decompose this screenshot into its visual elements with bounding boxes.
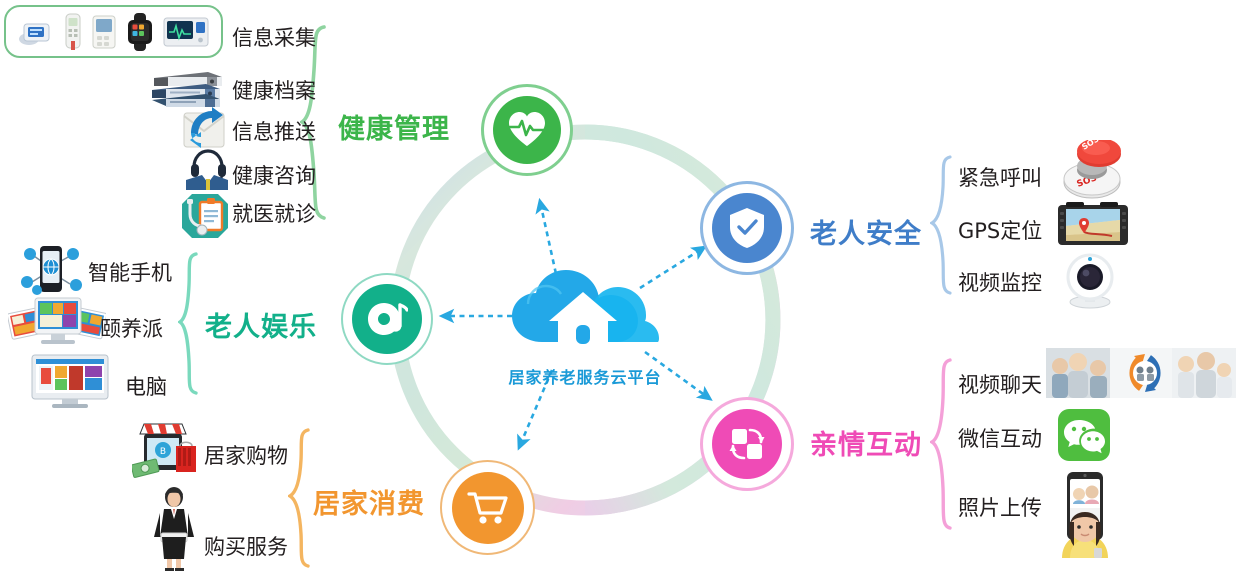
shopping-cart-icon — [467, 489, 509, 527]
tablet-tv-icon — [8, 296, 106, 346]
headset-consult-icon — [182, 147, 230, 191]
item-label-health-consultation: 健康咨询 — [232, 160, 316, 190]
handheld-monitor-icon — [91, 14, 117, 50]
hub-label-health-management: 健康管理 — [338, 107, 450, 146]
wechat-logo-icon — [1058, 409, 1110, 461]
item-label-yiyangpai: 颐养派 — [100, 313, 163, 343]
stethoscope-clipboard-icon — [180, 192, 230, 240]
exchange-blocks-icon — [727, 424, 767, 464]
hub-node-home-consumption[interactable] — [440, 460, 535, 555]
smartphone-network-icon — [14, 242, 86, 296]
smartwatch-icon — [125, 13, 155, 51]
item-label-emergency-call: 紧急呼叫 — [958, 162, 1042, 192]
file-binders-icon — [150, 68, 225, 108]
security-camera-icon — [1058, 252, 1122, 310]
gps-device-icon — [1056, 200, 1130, 250]
diagram-canvas: 居家养老服务云平台 健康管理 老人安全 — [0, 0, 1237, 571]
hub-label-elder-safety: 老人安全 — [810, 212, 922, 251]
cloud-house-icon — [498, 268, 668, 348]
push-message-icon — [182, 107, 226, 149]
cloud-platform-caption: 居家养老服务云平台 — [500, 364, 670, 388]
desktop-computer-icon — [30, 353, 110, 409]
item-label-medical-visit: 就医就诊 — [232, 198, 316, 228]
phone-photo-upload-icon — [1054, 470, 1116, 558]
online-store-icon: B — [132, 422, 200, 478]
item-label-video-chat: 视频聊天 — [958, 369, 1042, 399]
hub-node-family-interaction[interactable] — [700, 397, 794, 491]
glucose-meter-icon — [62, 12, 84, 52]
music-disc-icon — [366, 299, 408, 339]
item-label-photo-upload: 照片上传 — [958, 492, 1042, 522]
patient-monitor-icon — [163, 16, 209, 48]
hub-label-home-consumption: 居家消费 — [313, 482, 425, 521]
bracket-safety — [930, 155, 956, 295]
service-person-icon — [148, 485, 200, 571]
item-label-purchase-service: 购买服务 — [204, 531, 288, 561]
bracket-consumption — [288, 428, 316, 568]
sos-button-icon: SOS SOS — [1056, 140, 1128, 202]
hub-node-elder-entertainment[interactable] — [341, 273, 433, 365]
cloud-platform-node[interactable] — [498, 268, 668, 348]
hub-label-family-interaction: 亲情互动 — [810, 423, 922, 462]
bracket-family — [930, 358, 956, 530]
hub-node-health-management[interactable] — [481, 84, 573, 176]
item-label-smartphone: 智能手机 — [88, 257, 172, 287]
medical-devices-box[interactable] — [4, 5, 223, 58]
svg-text:B: B — [160, 447, 166, 457]
item-label-info-push: 信息推送 — [232, 116, 316, 146]
shield-check-icon — [728, 207, 766, 249]
item-label-info-collection: 信息采集 — [232, 22, 316, 52]
blood-pressure-monitor-icon — [18, 15, 54, 49]
item-label-gps-location: GPS定位 — [958, 215, 1042, 245]
item-label-wechat-interaction: 微信互动 — [958, 423, 1042, 453]
hub-label-elder-entertainment: 老人娱乐 — [205, 305, 317, 344]
hub-node-elder-safety[interactable] — [700, 181, 794, 275]
heart-pulse-icon — [507, 111, 547, 149]
video-chat-photo-icon — [1046, 348, 1236, 398]
item-label-home-shopping: 居家购物 — [204, 440, 288, 470]
item-label-health-records: 健康档案 — [232, 75, 316, 105]
item-label-video-monitoring: 视频监控 — [958, 267, 1042, 297]
item-label-computer: 电脑 — [125, 371, 167, 401]
bracket-entertainment — [178, 252, 204, 395]
